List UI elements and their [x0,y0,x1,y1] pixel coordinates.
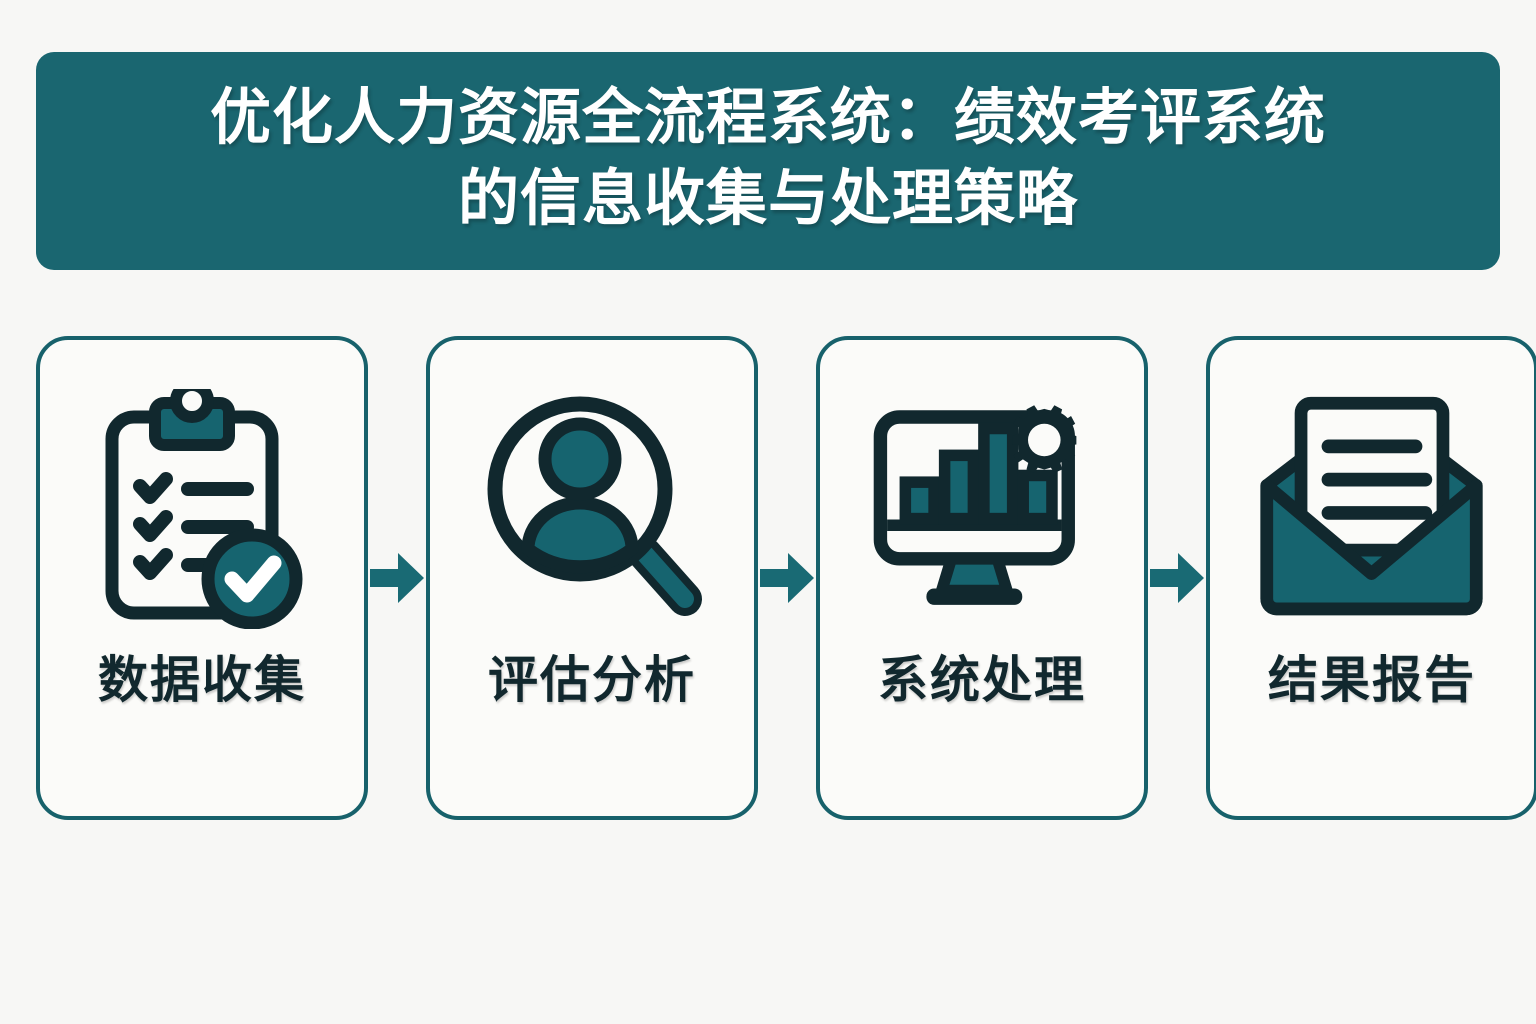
step-label-system-processing: 系统处理 [878,640,1086,712]
arrow-connector-2 [758,336,816,820]
page-title-line-1: 优化人力资源全流程系统：绩效考评系统 [210,78,1326,159]
arrow-right-icon [368,550,426,606]
step-label-data-collection: 数据收集 [98,640,306,712]
arrow-connector-1 [368,336,426,820]
page-title-line-2: 的信息收集与处理策略 [458,159,1078,240]
clipboard-checklist-icon [87,384,317,634]
step-card-system-processing[interactable]: 系统处理 [816,336,1148,820]
magnifier-person-icon [477,384,707,634]
arrow-right-icon [1148,550,1206,606]
header-banner: 优化人力资源全流程系统：绩效考评系统 的信息收集与处理策略 [36,52,1500,270]
step-label-result-report: 结果报告 [1268,640,1476,712]
process-flow-row: 数据收集 评估分析 [36,336,1500,820]
step-card-result-report[interactable]: 结果报告 [1206,336,1536,820]
arrow-connector-3 [1148,336,1206,820]
step-label-evaluation-analysis: 评估分析 [488,640,696,712]
arrow-right-icon [758,550,816,606]
monitor-chart-gear-icon [867,384,1097,634]
open-envelope-letter-icon [1257,384,1487,634]
step-card-evaluation-analysis[interactable]: 评估分析 [426,336,758,820]
step-card-data-collection[interactable]: 数据收集 [36,336,368,820]
